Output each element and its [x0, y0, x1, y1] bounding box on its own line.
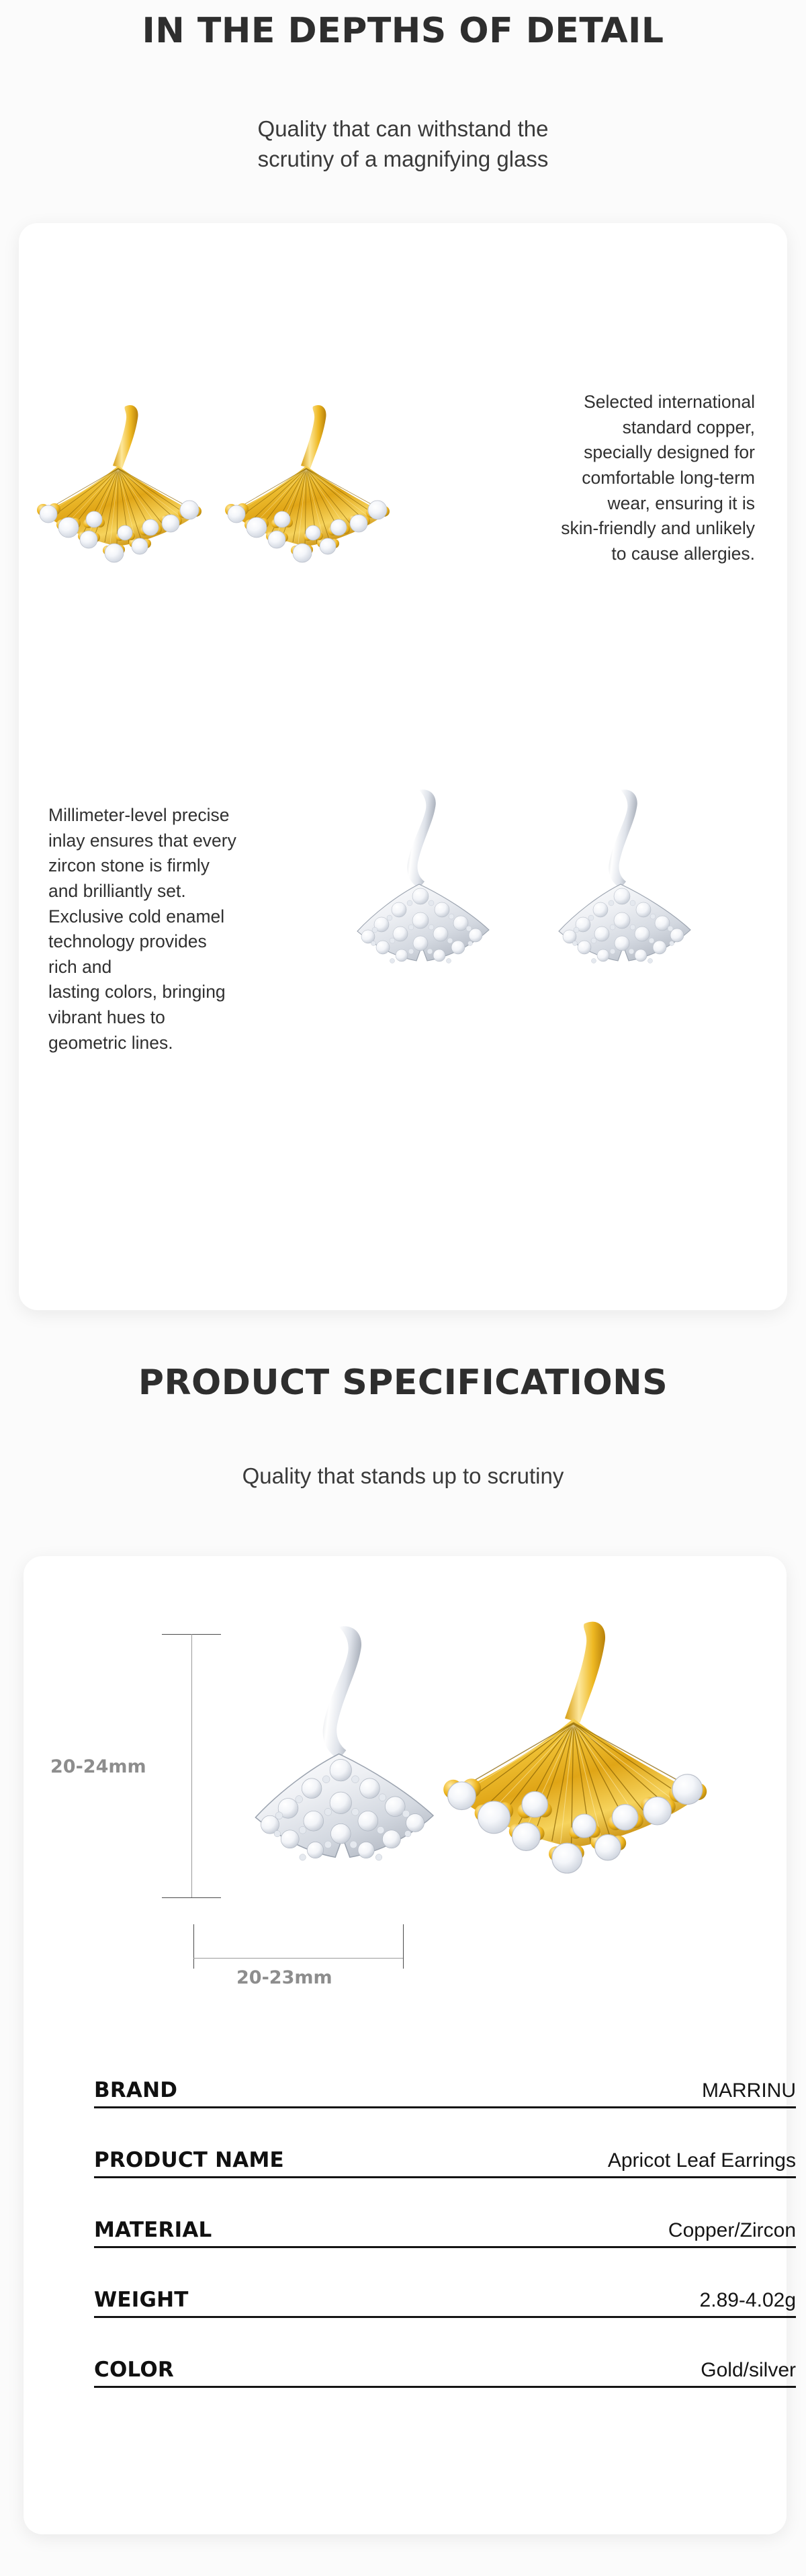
depths-section-title: IN THE DEPTHS OF DETAIL	[0, 12, 806, 50]
specs-section-subtitle: Quality that stands up to scrutiny	[0, 1461, 806, 1492]
specification-table: BRAND MARRINU PRODUCT NAME Apricot Leaf …	[94, 2053, 796, 2388]
spec-key-weight: WEIGHT	[94, 2288, 189, 2312]
feature-inlay: Millimeter-level precise inlay ensures t…	[19, 693, 787, 1310]
dim-width-left-cap	[193, 1924, 194, 1969]
spec-key-material: MATERIAL	[94, 2218, 212, 2242]
specs-section-title: PRODUCT SPECIFICATIONS	[0, 1364, 806, 1402]
table-row: COLOR Gold/silver	[94, 2333, 796, 2388]
dimension-diagram: 20-24mm 20-23mm	[24, 1556, 787, 2006]
spec-value-product-name: Apricot Leaf Earrings	[608, 2149, 796, 2172]
material-feature-text: Selected international standard copper, …	[482, 390, 755, 566]
dim-height-line	[191, 1634, 192, 1897]
gold-apricot-leaf-earrings	[26, 374, 429, 589]
spec-value-color: Gold/silver	[701, 2359, 796, 2382]
spec-value-weight: 2.89-4.02g	[700, 2289, 796, 2312]
table-row: BRAND MARRINU	[94, 2053, 796, 2108]
feature-material: Selected international standard copper, …	[19, 223, 787, 693]
spec-key-color: COLOR	[94, 2358, 174, 2382]
detail-card: Selected international standard copper, …	[19, 223, 787, 1310]
spec-key-brand: BRAND	[94, 2078, 177, 2102]
dim-width-right-cap	[403, 1924, 404, 1969]
silver-apricot-leaf-earrings	[334, 767, 778, 1049]
dim-width-label: 20-23mm	[236, 1967, 332, 1988]
spec-value-material: Copper/Zircon	[668, 2219, 796, 2242]
specs-gold-earring	[427, 1608, 776, 1904]
depths-section-header: IN THE DEPTHS OF DETAIL	[0, 12, 806, 50]
table-row: MATERIAL Copper/Zircon	[94, 2193, 796, 2248]
spec-key-product-name: PRODUCT NAME	[94, 2148, 284, 2172]
dim-height-label: 20-24mm	[50, 1756, 146, 1777]
specs-section-header: PRODUCT SPECIFICATIONS	[0, 1364, 806, 1402]
dim-width-line	[193, 1958, 403, 1959]
depths-section-subtitle: Quality that can withstand the scrutiny …	[0, 114, 806, 174]
depths-section-subtitle-wrap: Quality that can withstand the scrutiny …	[0, 114, 806, 174]
inlay-feature-text: Millimeter-level precise inlay ensures t…	[48, 803, 337, 1056]
dim-height-bottom-cap	[162, 1897, 221, 1898]
specs-card: 20-24mm 20-23mm BRAND MARRINU	[24, 1556, 787, 2534]
specs-section-subtitle-wrap: Quality that stands up to scrutiny	[0, 1461, 806, 1492]
specs-silver-earring	[225, 1610, 440, 1905]
table-row: WEIGHT 2.89-4.02g	[94, 2263, 796, 2318]
table-row: PRODUCT NAME Apricot Leaf Earrings	[94, 2123, 796, 2178]
spec-value-brand: MARRINU	[702, 2079, 796, 2102]
